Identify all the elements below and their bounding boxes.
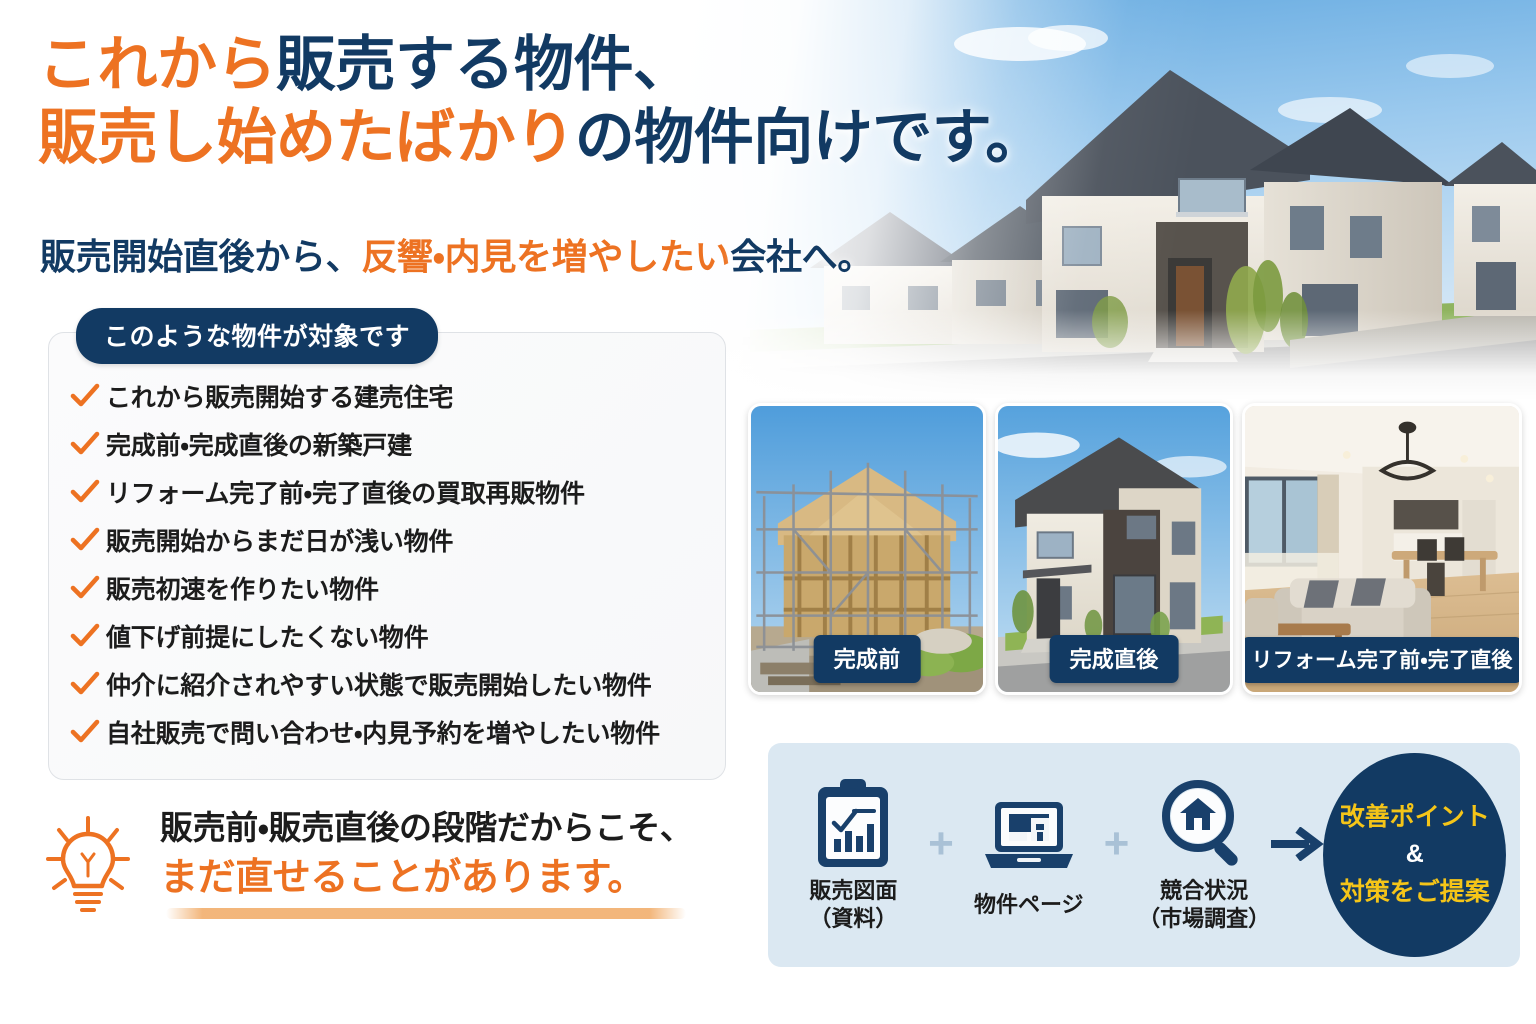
result-line-2: 対策をご提案	[1340, 874, 1490, 912]
page-headline: これから販売する物件、 販売し始めたばかりの物件向けです。	[38, 28, 1048, 174]
check-icon	[64, 623, 106, 649]
list-item-label: リフォーム完了前・完了直後の買取再販物件	[106, 474, 585, 510]
check-icon	[64, 383, 106, 409]
list-item-label: 販売開始からまだ日が浅い物件	[106, 522, 453, 558]
lightbulb-icon	[40, 806, 152, 918]
subheadline-part-1: 販売開始直後から、	[40, 236, 361, 277]
list-item-label: 仲介に紹介されやすい状態で販売開始したい物件	[106, 666, 652, 702]
list-item: 完成前・完成直後の新築戸建	[64, 420, 724, 467]
check-icon	[64, 431, 106, 457]
headline-line1-accent: これから	[38, 31, 276, 98]
list-item: 自社販売で問い合わせ・内見予約を増やしたい物件	[64, 708, 724, 755]
result-ampersand: &	[1406, 836, 1424, 874]
plus-separator-1: +	[921, 822, 962, 888]
headline-line-2: 販売し始めたばかりの物件向けです。	[38, 101, 1048, 174]
list-item: 販売初速を作りたい物件	[64, 564, 724, 611]
process-step-label-line2: （市場調査）	[1138, 905, 1270, 933]
subheadline-accent: 反響・内見を増やしたい	[361, 236, 730, 277]
headline-line-1: これから販売する物件、	[38, 28, 1048, 101]
thumbnail-caption: リフォーム完了前・完了直後	[1242, 637, 1522, 683]
subheadline-part-3: 会社へ。	[730, 236, 873, 277]
list-item-label: 値下げ前提にしたくない物件	[106, 618, 428, 654]
property-stage-thumbnails: 完成前	[748, 403, 1522, 695]
process-step-label: 物件ページ	[974, 891, 1084, 919]
process-step-market-research: 競合状況 （市場調査）	[1137, 777, 1272, 932]
magnifier-house-icon	[1158, 777, 1250, 871]
list-item: 値下げ前提にしたくない物件	[64, 612, 724, 659]
process-step-label-line1: 物件ページ	[974, 891, 1084, 919]
process-step-label: 競合状況 （市場調査）	[1138, 877, 1270, 932]
list-item-label: 自社販売で問い合わせ・内見予約を増やしたい物件	[106, 714, 660, 750]
thumbnail-just-completed[interactable]: 完成直後	[995, 403, 1233, 695]
laptop-listing-icon	[979, 791, 1079, 885]
process-step-label: 販売図面 （資料）	[809, 877, 897, 932]
list-item-label: 完成前・完成直後の新築戸建	[106, 426, 412, 462]
arrow-right-icon	[1271, 827, 1325, 883]
insight-underline	[166, 908, 686, 919]
list-item-label: これから販売開始する建売住宅	[106, 378, 453, 414]
check-icon	[64, 527, 106, 553]
headline-line2-main: の物件向けです。	[575, 104, 1045, 171]
service-process-panel: 販売図面 （資料） + 物件ページ	[768, 743, 1520, 967]
list-item: 販売開始からまだ日が浅い物件	[64, 516, 724, 563]
headline-line2-accent: 販売し始めたばかり	[38, 104, 575, 171]
process-step-label-line2: （資料）	[809, 905, 897, 933]
process-result-badge: 改善ポイント & 対策をご提案	[1323, 753, 1506, 957]
target-box-badge: このような物件が対象です	[76, 308, 438, 364]
insight-line-2: まだ直せることがあります。	[160, 854, 692, 903]
plus-separator-2: +	[1096, 822, 1137, 888]
check-icon	[64, 479, 106, 505]
process-step-label-line1: 販売図面	[809, 877, 897, 905]
check-icon	[64, 575, 106, 601]
headline-line1-main: 販売する物件、	[276, 31, 693, 98]
process-step-label-line1: 競合状況	[1138, 877, 1270, 905]
list-item: 仲介に紹介されやすい状態で販売開始したい物件	[64, 660, 724, 707]
landing-page-hero-section: これから販売する物件、 販売し始めたばかりの物件向けです。 販売開始直後から、反…	[0, 0, 1536, 1024]
thumbnail-under-construction[interactable]: 完成前	[748, 403, 986, 695]
list-item: これから販売開始する建売住宅	[64, 372, 724, 419]
list-item: リフォーム完了前・完了直後の買取再販物件	[64, 468, 724, 515]
list-item-label: 販売初速を作りたい物件	[106, 570, 379, 606]
insight-line-1: 販売前・販売直後の段階だからこそ、	[160, 806, 692, 851]
thumbnail-renovated-interior[interactable]: リフォーム完了前・完了直後	[1242, 403, 1522, 695]
page-subheadline: 販売開始直後から、反響・内見を増やしたい会社へ。	[40, 228, 873, 280]
check-icon	[64, 719, 106, 745]
process-step-sales-drawing: 販売図面 （資料）	[786, 777, 921, 932]
check-icon	[64, 671, 106, 697]
insight-text: 販売前・販売直後の段階だからこそ、 まだ直せることがあります。	[152, 806, 692, 919]
insight-block: 販売前・販売直後の段階だからこそ、 まだ直せることがあります。	[40, 806, 692, 919]
thumbnail-caption: 完成前	[814, 635, 921, 683]
thumbnail-caption: 完成直後	[1050, 635, 1179, 683]
target-properties-list: これから販売開始する建売住宅 完成前・完成直後の新築戸建 リフォーム完了前・完了…	[64, 372, 724, 756]
process-step-property-page: 物件ページ	[961, 791, 1096, 919]
result-line-1: 改善ポイント	[1340, 799, 1490, 837]
clipboard-chart-icon	[812, 777, 894, 871]
